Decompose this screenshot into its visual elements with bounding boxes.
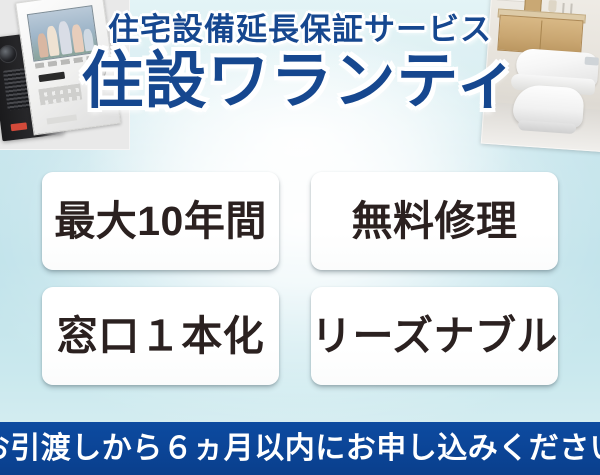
feature-box-reasonable: リーズナブル: [311, 287, 558, 385]
call-button: [11, 122, 28, 131]
monitor-stand: [47, 114, 78, 124]
service-tagline: 住宅設備延長保証サービス: [0, 14, 600, 45]
product-title: 住設ワランティ: [0, 51, 600, 113]
application-deadline-bar: お引渡しから６ヵ月以内にお申し込みください: [0, 422, 600, 475]
feature-label: リーズナブル: [311, 316, 558, 357]
application-deadline-text: お引渡しから６ヵ月以内にお申し込みください: [0, 434, 600, 464]
feature-label: 窓口１本化: [57, 316, 265, 357]
feature-label: 最大10年間: [54, 201, 267, 242]
feature-box-free-repair: 無料修理: [311, 172, 558, 270]
feature-label: 無料修理: [352, 201, 518, 242]
decor-vase: [548, 0, 557, 12]
promo-banner: 住宅設備延長保証サービス 住設ワランティ 最大10年間 無料修理 窓口１本化 リ…: [0, 0, 600, 475]
feature-box-max-years: 最大10年間: [42, 172, 279, 270]
feature-box-grid: 最大10年間 無料修理 窓口１本化 リーズナブル: [42, 172, 558, 385]
headline-block: 住宅設備延長保証サービス 住設ワランティ: [0, 14, 600, 113]
feature-box-single-contact: 窓口１本化: [42, 287, 279, 385]
